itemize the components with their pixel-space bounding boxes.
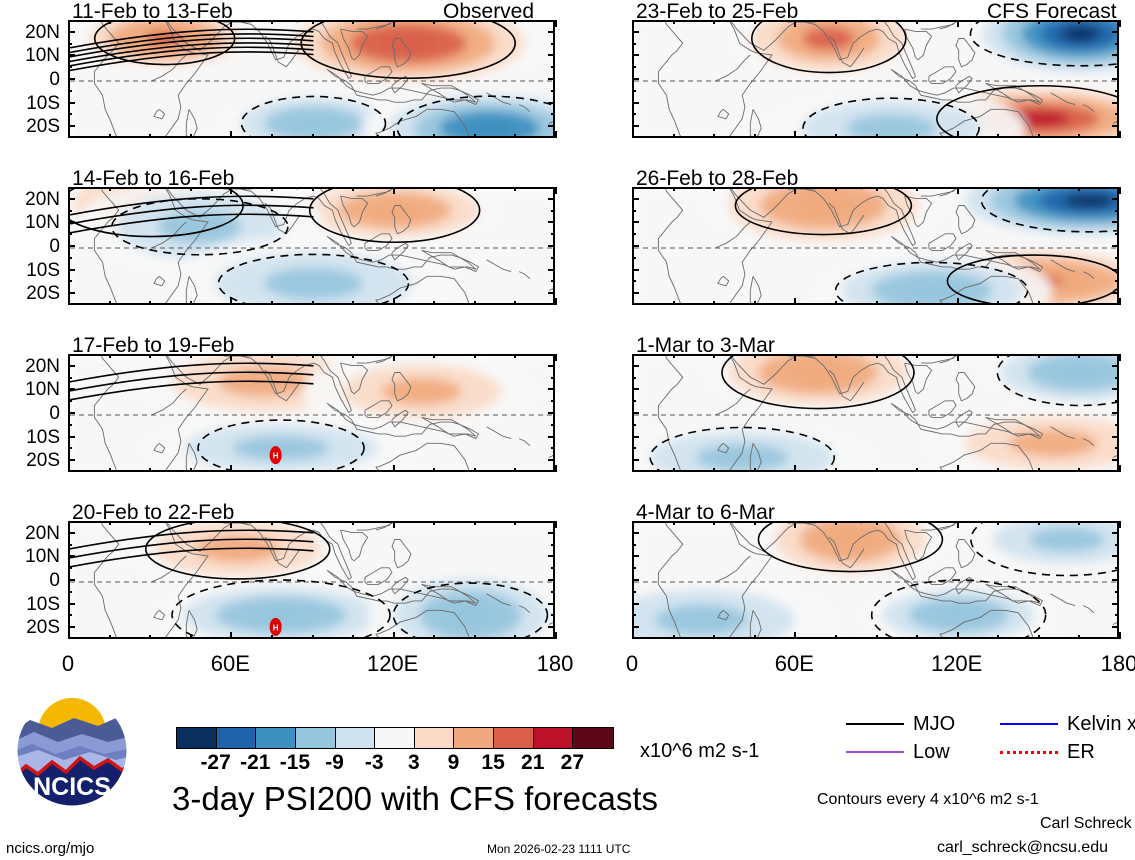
colorbar-segment-6: [415, 728, 455, 748]
y-tick: [1112, 436, 1119, 438]
x-tick: [876, 301, 878, 305]
x-tick: [916, 134, 918, 138]
x-tick: [713, 521, 715, 525]
x-tick: [474, 187, 476, 191]
x-tick: [474, 468, 476, 472]
x-tick: [835, 301, 837, 305]
y-tick: [68, 78, 75, 80]
x-tick: [876, 354, 878, 358]
logo-text: NCICS: [33, 773, 111, 801]
y-axis-label-20s: 20S: [0, 451, 60, 470]
x-tick: [1119, 187, 1121, 194]
x-tick: [433, 468, 435, 472]
y-axis-label-20n: 20N: [0, 23, 60, 42]
colorbar-units-label: x10^6 m2 s-1: [640, 741, 759, 761]
y-tick-minor: [1115, 591, 1119, 593]
y-tick: [68, 555, 75, 557]
y-tick: [632, 459, 639, 461]
y-axis-label-20n: 20N: [0, 524, 60, 543]
panel-title-fcs-1: 23-Feb to 25-Feb: [636, 1, 798, 22]
x-tick: [1078, 521, 1080, 525]
legend-swatch-kelvin-x2-icon: [1000, 723, 1058, 725]
y-tick: [1112, 532, 1119, 534]
x-axis-label-right-60e: 60E: [768, 653, 820, 675]
y-tick: [632, 388, 639, 390]
x-tick: [754, 354, 756, 358]
x-tick: [230, 20, 232, 27]
x-tick: [916, 20, 918, 24]
y-tick-minor: [632, 257, 636, 259]
x-tick: [190, 134, 192, 138]
y-axis-label-10s: 10S: [0, 428, 60, 447]
x-tick: [68, 632, 70, 639]
author-name: Carl Schreck: [1040, 815, 1132, 832]
x-tick: [271, 134, 273, 138]
y-tick-minor: [551, 280, 555, 282]
x-tick: [835, 521, 837, 525]
legend-swatch-low-icon: [846, 751, 904, 753]
y-axis-label-10n: 10N: [0, 380, 60, 399]
x-tick: [876, 521, 878, 525]
y-tick-minor: [632, 233, 636, 235]
x-tick: [352, 134, 354, 138]
x-tick: [997, 20, 999, 24]
y-tick: [1112, 555, 1119, 557]
x-tick: [149, 187, 151, 191]
y-tick-minor: [632, 614, 636, 616]
generation-timestamp: Mon 2026-02-23 1111 UTC: [487, 843, 630, 856]
x-tick: [312, 354, 314, 358]
y-tick: [548, 54, 555, 56]
y-axis-label-20s: 20S: [0, 618, 60, 637]
panel-title-obs-2: 14-Feb to 16-Feb: [72, 168, 234, 189]
x-tick: [673, 521, 675, 525]
x-tick: [1119, 632, 1121, 639]
y-tick: [632, 412, 639, 414]
x-tick: [190, 468, 192, 472]
x-tick: [393, 354, 395, 361]
y-tick-minor: [551, 614, 555, 616]
x-tick: [632, 131, 634, 138]
y-tick-minor: [632, 113, 636, 115]
y-tick: [548, 436, 555, 438]
y-tick-minor: [68, 400, 72, 402]
y-tick: [632, 365, 639, 367]
y-tick: [1112, 269, 1119, 271]
x-tick: [190, 521, 192, 525]
y-tick-minor: [551, 233, 555, 235]
x-tick: [997, 354, 999, 358]
x-tick: [555, 187, 557, 194]
x-tick: [835, 20, 837, 24]
y-axis-label-10s: 10S: [0, 261, 60, 280]
x-tick: [109, 134, 111, 138]
y-tick: [1112, 221, 1119, 223]
x-tick: [230, 354, 232, 361]
y-axis-label-20s: 20S: [0, 284, 60, 303]
y-tick: [1112, 388, 1119, 390]
x-tick: [713, 468, 715, 472]
x-axis-label-left-0: 0: [42, 653, 94, 675]
x-tick: [433, 635, 435, 639]
x-tick: [876, 134, 878, 138]
x-tick: [149, 521, 151, 525]
y-tick-minor: [551, 377, 555, 379]
x-tick: [632, 20, 634, 27]
map-panel-obs-1: [68, 20, 555, 138]
y-axis-label-0: 0: [0, 571, 60, 590]
contour-interval-note: Contours every 4 x10^6 m2 s-1: [817, 791, 1039, 808]
y-tick-minor: [68, 447, 72, 449]
y-tick: [1112, 365, 1119, 367]
y-tick-minor: [68, 233, 72, 235]
colorbar-segment-0: [177, 728, 217, 748]
x-tick: [794, 632, 796, 639]
y-axis-label-10s: 10S: [0, 94, 60, 113]
x-tick: [312, 187, 314, 191]
x-tick: [109, 354, 111, 358]
x-tick: [835, 468, 837, 472]
y-tick-minor: [632, 424, 636, 426]
panel-title-obs-3: 17-Feb to 19-Feb: [72, 335, 234, 356]
y-tick: [1112, 125, 1119, 127]
x-tick: [109, 635, 111, 639]
y-tick: [68, 292, 75, 294]
y-tick: [632, 532, 639, 534]
y-axis-label-10n: 10N: [0, 547, 60, 566]
panel-title-fcs-3: 1-Mar to 3-Mar: [636, 335, 775, 356]
colorbar-segment-1: [217, 728, 257, 748]
y-tick-minor: [68, 210, 72, 212]
x-tick: [68, 521, 70, 528]
forecast-column-label: CFS Forecast: [987, 1, 1117, 22]
x-tick: [149, 635, 151, 639]
y-tick: [632, 603, 639, 605]
x-tick: [555, 465, 557, 472]
x-tick: [393, 465, 395, 472]
x-tick: [109, 521, 111, 525]
x-tick: [713, 20, 715, 24]
x-tick: [393, 187, 395, 194]
legend-item-mjo: MJO: [846, 714, 955, 734]
y-tick: [548, 412, 555, 414]
x-tick: [149, 468, 151, 472]
y-tick-minor: [1115, 567, 1119, 569]
site-url[interactable]: ncics.org/mjo: [6, 842, 94, 855]
y-tick: [68, 412, 75, 414]
panel-title-obs-4: 20-Feb to 22-Feb: [72, 502, 234, 523]
x-tick: [1119, 131, 1121, 138]
page-title: 3-day PSI200 with CFS forecasts: [172, 782, 658, 816]
y-tick: [1112, 245, 1119, 247]
y-tick: [548, 221, 555, 223]
x-tick: [754, 301, 756, 305]
x-tick: [393, 298, 395, 305]
y-tick-minor: [1115, 280, 1119, 282]
x-tick: [1119, 20, 1121, 27]
y-tick: [632, 102, 639, 104]
x-tick: [713, 354, 715, 358]
x-tick: [916, 521, 918, 525]
x-tick: [312, 301, 314, 305]
x-tick: [68, 298, 70, 305]
x-tick: [271, 20, 273, 24]
x-tick: [957, 131, 959, 138]
map-panel-fcs-2: [632, 187, 1119, 305]
x-tick: [393, 632, 395, 639]
y-tick: [68, 626, 75, 628]
y-axis-label-10n: 10N: [0, 46, 60, 65]
y-tick: [68, 31, 75, 33]
y-tick: [632, 31, 639, 33]
y-tick-minor: [632, 400, 636, 402]
y-axis-label-20n: 20N: [0, 357, 60, 376]
y-axis-label-10s: 10S: [0, 595, 60, 614]
x-tick: [1078, 354, 1080, 358]
y-tick-minor: [68, 280, 72, 282]
y-tick: [68, 198, 75, 200]
y-tick: [1112, 292, 1119, 294]
x-tick: [393, 131, 395, 138]
x-tick: [312, 134, 314, 138]
y-tick-minor: [632, 210, 636, 212]
y-tick: [632, 579, 639, 581]
y-tick: [548, 388, 555, 390]
y-axis-label-0: 0: [0, 237, 60, 256]
x-tick: [271, 354, 273, 358]
y-tick-minor: [551, 400, 555, 402]
x-tick: [876, 20, 878, 24]
y-tick: [548, 365, 555, 367]
x-tick: [794, 298, 796, 305]
x-tick: [794, 131, 796, 138]
y-tick: [632, 269, 639, 271]
y-tick-minor: [551, 66, 555, 68]
x-tick: [1078, 635, 1080, 639]
author-email: carl_schreck@ncsu.edu: [937, 839, 1108, 856]
y-tick: [1112, 54, 1119, 56]
x-tick: [754, 468, 756, 472]
y-tick: [632, 54, 639, 56]
y-tick: [548, 125, 555, 127]
x-tick: [271, 187, 273, 191]
y-tick: [632, 436, 639, 438]
x-tick: [352, 187, 354, 191]
y-axis-label-10n: 10N: [0, 213, 60, 232]
map-panel-obs-3: H: [68, 354, 555, 472]
y-tick: [1112, 198, 1119, 200]
x-tick: [393, 20, 395, 27]
x-tick: [957, 354, 959, 361]
x-tick: [312, 521, 314, 525]
x-tick: [632, 298, 634, 305]
y-axis-label-0: 0: [0, 70, 60, 89]
y-tick: [1112, 579, 1119, 581]
x-tick: [754, 134, 756, 138]
colorbar-segment-5: [375, 728, 415, 748]
panel-title-obs-1: 11-Feb to 13-Feb: [72, 1, 233, 22]
x-tick: [555, 298, 557, 305]
map-panel-fcs-1: [632, 20, 1119, 138]
x-tick: [754, 521, 756, 525]
svg-text:H: H: [273, 452, 279, 461]
x-tick: [149, 20, 151, 24]
y-tick: [68, 532, 75, 534]
y-tick-minor: [68, 43, 72, 45]
x-tick: [794, 521, 796, 528]
y-tick-minor: [632, 447, 636, 449]
y-tick-minor: [68, 567, 72, 569]
y-tick: [68, 54, 75, 56]
y-tick-minor: [551, 257, 555, 259]
y-tick-minor: [1115, 447, 1119, 449]
legend-label: Low: [913, 742, 950, 762]
x-tick: [957, 187, 959, 194]
map-panel-obs-4: H: [68, 521, 555, 639]
y-tick-minor: [551, 591, 555, 593]
y-tick: [548, 626, 555, 628]
y-tick: [68, 102, 75, 104]
x-tick: [876, 635, 878, 639]
y-tick-minor: [1115, 377, 1119, 379]
x-axis-label-left-120e: 120E: [367, 653, 419, 675]
legend-item-kelvin-x2: Kelvin x2: [1000, 714, 1135, 734]
x-tick: [916, 468, 918, 472]
x-tick: [230, 131, 232, 138]
y-tick: [548, 603, 555, 605]
legend-label: Kelvin x2: [1067, 714, 1135, 734]
x-tick: [149, 134, 151, 138]
x-tick: [149, 354, 151, 358]
x-tick: [1119, 298, 1121, 305]
x-tick: [794, 20, 796, 27]
y-tick: [548, 31, 555, 33]
x-tick: [794, 354, 796, 361]
colorbar-segment-10: [573, 728, 613, 748]
y-tick: [548, 532, 555, 534]
x-tick: [957, 20, 959, 27]
panel-title-fcs-2: 26-Feb to 28-Feb: [636, 168, 798, 189]
svg-text:H: H: [273, 623, 279, 632]
x-tick: [352, 468, 354, 472]
y-tick-minor: [68, 257, 72, 259]
x-tick: [514, 521, 516, 525]
x-tick: [190, 187, 192, 191]
y-tick: [548, 198, 555, 200]
y-tick-minor: [632, 280, 636, 282]
y-tick: [68, 245, 75, 247]
x-tick: [1038, 635, 1040, 639]
y-tick-minor: [632, 377, 636, 379]
y-tick-minor: [551, 43, 555, 45]
x-tick: [673, 468, 675, 472]
colorbar-segment-4: [336, 728, 376, 748]
x-tick: [312, 20, 314, 24]
x-tick: [916, 635, 918, 639]
y-tick: [1112, 31, 1119, 33]
x-tick: [632, 354, 634, 361]
x-tick: [352, 354, 354, 358]
y-axis-label-20s: 20S: [0, 117, 60, 136]
x-tick: [1038, 187, 1040, 191]
colorbar-segment-9: [534, 728, 574, 748]
x-tick: [230, 521, 232, 528]
x-tick: [673, 20, 675, 24]
x-tick: [271, 521, 273, 525]
y-tick: [548, 292, 555, 294]
x-tick: [352, 635, 354, 639]
x-tick: [632, 632, 634, 639]
x-tick: [1078, 20, 1080, 24]
y-tick: [68, 603, 75, 605]
x-tick: [271, 635, 273, 639]
legend-swatch-mjo-icon: [846, 723, 904, 725]
x-tick: [835, 354, 837, 358]
x-tick: [673, 134, 675, 138]
x-tick: [1038, 354, 1040, 358]
y-tick-minor: [551, 113, 555, 115]
x-tick: [835, 134, 837, 138]
ncics-logo: NCICS: [12, 692, 132, 810]
y-tick: [548, 555, 555, 557]
y-tick-minor: [632, 544, 636, 546]
x-axis-label-left-180: 180: [529, 653, 581, 675]
x-axis-label-right-120e: 120E: [931, 653, 983, 675]
x-tick: [997, 468, 999, 472]
y-tick-minor: [1115, 400, 1119, 402]
y-tick-minor: [68, 113, 72, 115]
x-tick: [754, 635, 756, 639]
panel-title-fcs-4: 4-Mar to 6-Mar: [636, 502, 775, 523]
y-tick-minor: [1115, 43, 1119, 45]
y-tick-minor: [68, 90, 72, 92]
x-tick: [555, 521, 557, 528]
x-axis-label-right-180: 180: [1093, 653, 1135, 675]
y-tick-minor: [632, 43, 636, 45]
y-tick-minor: [551, 90, 555, 92]
y-axis-label-20n: 20N: [0, 190, 60, 209]
x-tick: [1078, 134, 1080, 138]
y-tick: [68, 365, 75, 367]
x-tick: [632, 465, 634, 472]
x-tick: [794, 187, 796, 194]
y-tick-minor: [68, 424, 72, 426]
y-tick-minor: [551, 424, 555, 426]
x-tick: [68, 354, 70, 361]
y-tick-minor: [1115, 66, 1119, 68]
y-tick: [1112, 626, 1119, 628]
x-tick: [1078, 187, 1080, 191]
x-tick: [271, 468, 273, 472]
colorbar-segment-2: [256, 728, 296, 748]
x-tick: [673, 635, 675, 639]
x-tick: [514, 187, 516, 191]
y-tick-minor: [632, 591, 636, 593]
x-tick: [1119, 521, 1121, 528]
legend-item-er: ER: [1000, 742, 1095, 762]
x-tick: [190, 20, 192, 24]
observed-column-label: Observed: [443, 1, 534, 22]
y-tick: [632, 125, 639, 127]
y-tick: [548, 269, 555, 271]
x-tick: [68, 187, 70, 194]
y-tick: [1112, 78, 1119, 80]
y-tick-minor: [68, 544, 72, 546]
y-tick: [68, 388, 75, 390]
x-tick: [713, 187, 715, 191]
y-tick: [632, 292, 639, 294]
x-tick: [835, 635, 837, 639]
